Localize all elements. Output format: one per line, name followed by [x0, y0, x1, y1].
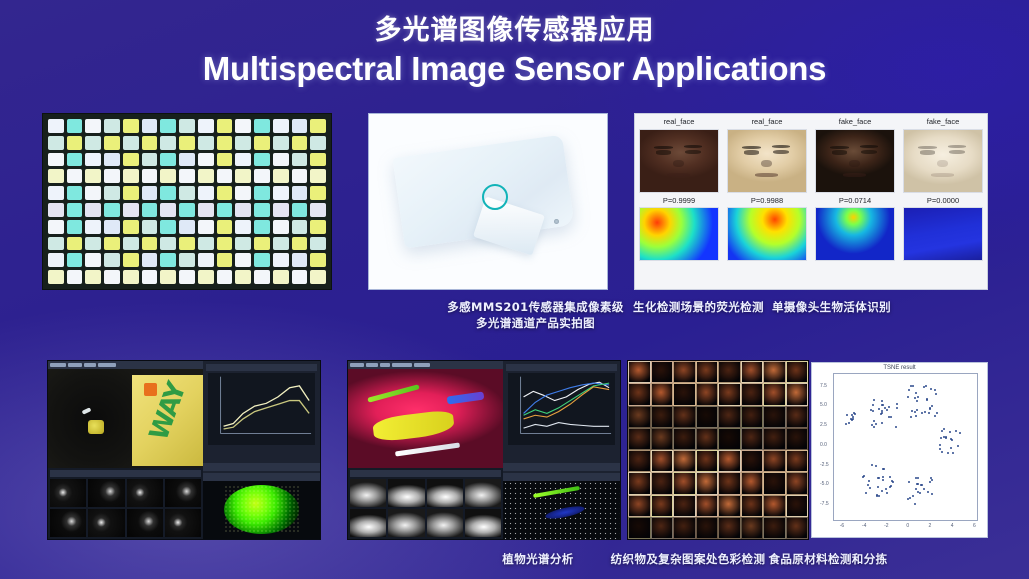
filter-cell: [160, 153, 176, 167]
filter-cell: [292, 136, 308, 150]
scatter-point: [875, 423, 877, 425]
food-sample-cell: [718, 450, 741, 472]
food-sample-cell: [651, 383, 674, 405]
filter-cell: [85, 136, 101, 150]
channel-thumbnail[interactable]: [88, 509, 124, 537]
filter-cell: [292, 186, 308, 200]
filter-cell: [310, 253, 326, 267]
panel-plant-spectral-analysis: WAY: [47, 360, 321, 540]
food-sample-cell: [786, 450, 809, 472]
food-sample-cell: [718, 428, 741, 450]
filter-cell: [198, 119, 214, 133]
filter-cell: [179, 186, 195, 200]
filter-cell: [179, 203, 195, 217]
panel-face-liveness: real_face P=0.9999 real_face P=0.9988: [634, 113, 988, 290]
food-sample-cell: [786, 428, 809, 450]
camera-view: WAY: [48, 369, 203, 468]
scatter-point: [930, 388, 932, 390]
food-sample-cell: [718, 406, 741, 428]
scatter-point: [877, 477, 879, 479]
scatter-point: [919, 492, 921, 494]
food-sample-cell: [673, 472, 696, 494]
face-thumbnail: [639, 129, 719, 193]
spectral-curves: [208, 373, 315, 445]
scatter-point: [931, 493, 933, 495]
food-sample-cell: [741, 428, 764, 450]
food-sample-cell: [696, 450, 719, 472]
fluorescence-marker-icon: [482, 184, 508, 210]
scatter-point: [852, 418, 854, 420]
channel-thumbnail[interactable]: [388, 509, 424, 537]
food-sample-cell: [786, 406, 809, 428]
food-sample-cell: [696, 428, 719, 450]
scatter-point: [910, 385, 912, 387]
filter-cell: [160, 220, 176, 234]
scatter-point: [941, 451, 943, 453]
filter-cell: [235, 253, 251, 267]
food-sample-cell: [673, 361, 696, 383]
food-sample-cell: [651, 428, 674, 450]
filter-cell: [104, 169, 120, 183]
scatter-point: [890, 416, 892, 418]
filter-cell: [273, 153, 289, 167]
food-sample-cell: [786, 383, 809, 405]
filter-cell: [67, 270, 83, 284]
filter-cell: [198, 253, 214, 267]
food-sample-cell: [786, 495, 809, 517]
scatter-point: [930, 477, 932, 479]
filter-cell: [179, 237, 195, 251]
scatter-point: [883, 468, 885, 470]
filter-cell: [235, 270, 251, 284]
filter-cell: [179, 270, 195, 284]
food-sample-cell: [718, 517, 741, 539]
filter-cell: [67, 136, 83, 150]
scatter-point: [949, 431, 951, 433]
scatter-point: [957, 445, 959, 447]
filter-cell: [85, 169, 101, 183]
food-sample-cell: [763, 450, 786, 472]
scatter-point: [917, 477, 919, 479]
scatter-y-tick: 2.5: [820, 422, 827, 428]
filter-cell: [254, 186, 270, 200]
scatter-point: [848, 422, 850, 424]
filter-cell: [160, 136, 176, 150]
filter-cell: [123, 237, 139, 251]
food-sample-cell: [696, 406, 719, 428]
filter-cell: [310, 186, 326, 200]
food-sample-cell: [741, 383, 764, 405]
food-sample-cell: [763, 472, 786, 494]
filter-cell: [254, 169, 270, 183]
classification-result-view: [203, 481, 320, 539]
scatter-point: [872, 410, 874, 412]
filter-cell: [160, 237, 176, 251]
food-sample-cell: [763, 383, 786, 405]
filter-cell: [160, 203, 176, 217]
food-sample-cell: [673, 406, 696, 428]
filter-cell: [310, 270, 326, 284]
scatter-point: [907, 396, 909, 398]
filter-cell: [273, 270, 289, 284]
scatter-x-tick: -6: [840, 523, 844, 529]
scatter-point: [916, 483, 918, 485]
filter-cell: [273, 220, 289, 234]
filter-cell: [48, 253, 64, 267]
channel-thumbnail-panel: [348, 468, 503, 539]
food-sample-cell: [696, 383, 719, 405]
filter-cell: [292, 220, 308, 234]
food-sample-cell: [628, 517, 651, 539]
food-sample-cell: [786, 472, 809, 494]
filter-cell: [310, 203, 326, 217]
channel-thumbnail[interactable]: [388, 479, 424, 507]
food-sample-cell: [763, 517, 786, 539]
scatter-point: [912, 495, 914, 497]
filter-cell: [85, 153, 101, 167]
filter-cell: [273, 186, 289, 200]
filter-cell: [104, 270, 120, 284]
food-sample-cell: [651, 450, 674, 472]
filter-cell: [217, 119, 233, 133]
channel-thumbnail[interactable]: [88, 479, 124, 507]
scatter-point: [871, 464, 873, 466]
scatter-y-tick: 5.0: [820, 402, 827, 408]
filter-cell: [235, 136, 251, 150]
filter-cell: [198, 136, 214, 150]
filter-cell: [235, 203, 251, 217]
filter-cell: [123, 270, 139, 284]
scatter-point: [869, 487, 871, 489]
scatter-point: [881, 400, 883, 402]
scatter-point: [881, 410, 883, 412]
filter-cell: [179, 253, 195, 267]
filter-cell: [104, 220, 120, 234]
scatter-x-tick: 2: [929, 523, 932, 529]
filter-cell: [273, 237, 289, 251]
scatter-point: [881, 422, 883, 424]
face-heatmap: [815, 207, 895, 261]
scatter-point: [889, 486, 891, 488]
food-sample-cell: [673, 517, 696, 539]
scatter-point: [908, 389, 910, 391]
scatter-point: [943, 428, 945, 430]
filter-cell: [310, 119, 326, 133]
food-sample-cell: [786, 361, 809, 383]
scatter-point: [876, 495, 878, 497]
scatter-point: [896, 407, 898, 409]
scatter-point: [914, 397, 916, 399]
scatter-y-tick: 7.5: [820, 383, 827, 389]
scatter-point: [935, 393, 937, 395]
software-menu-bar[interactable]: [48, 361, 203, 369]
filter-cell: [85, 237, 101, 251]
filter-cell: [160, 186, 176, 200]
face-thumbnail: [727, 129, 807, 193]
scatter-point: [921, 412, 923, 414]
scatter-point: [925, 385, 927, 387]
food-sample-cell: [628, 406, 651, 428]
channel-thumbnail[interactable]: [427, 509, 463, 537]
filter-cell: [254, 153, 270, 167]
food-sample-cell: [651, 361, 674, 383]
scatter-point: [875, 465, 877, 467]
caption-mosaic-filter-array-line2: 多光谱通道产品实拍图: [0, 316, 1029, 331]
food-sample-cell: [741, 495, 764, 517]
software-menu-bar[interactable]: [348, 361, 503, 369]
food-sample-cell: [628, 450, 651, 472]
spectrograph-chart: [203, 361, 320, 461]
scatter-point: [867, 484, 869, 486]
food-sample-cell: [696, 495, 719, 517]
scatter-point: [882, 404, 884, 406]
food-sample-cell: [651, 406, 674, 428]
scatter-point: [914, 503, 916, 505]
food-sample-cell: [718, 383, 741, 405]
food-sample-cell: [718, 495, 741, 517]
filter-cell: [179, 136, 195, 150]
channel-thumbnail[interactable]: [127, 509, 163, 537]
filter-cell: [123, 169, 139, 183]
filter-cell: [198, 270, 214, 284]
filter-cell: [85, 119, 101, 133]
scatter-point: [878, 495, 880, 497]
scatter-point: [928, 412, 930, 414]
food-sample-cell: [741, 517, 764, 539]
filter-cell: [292, 237, 308, 251]
face-heatmap: [903, 207, 983, 261]
scatter-point: [909, 497, 911, 499]
channel-thumbnail[interactable]: [165, 479, 201, 507]
food-sample-cell: [741, 406, 764, 428]
multispectral-filter-grid: [43, 114, 331, 289]
filter-cell: [198, 186, 214, 200]
channel-thumbnail[interactable]: [350, 509, 386, 537]
channel-thumbnail[interactable]: [165, 509, 201, 537]
filter-cell: [48, 119, 64, 133]
face-thumbnail: [815, 129, 895, 193]
scatter-x-tick: 4: [951, 523, 954, 529]
filter-cell: [123, 253, 139, 267]
filter-cell: [292, 253, 308, 267]
channel-thumbnail[interactable]: [427, 479, 463, 507]
scatter-point: [917, 483, 919, 485]
filter-cell: [292, 203, 308, 217]
filter-cell: [310, 169, 326, 183]
filter-cell: [104, 203, 120, 217]
filter-cell: [235, 237, 251, 251]
filter-cell: [123, 220, 139, 234]
channel-thumbnail-panel: [48, 468, 203, 539]
filter-cell: [85, 270, 101, 284]
face-result-grid: real_face P=0.9999 real_face P=0.9988: [635, 114, 987, 289]
food-sample-cell: [673, 383, 696, 405]
scatter-point: [877, 486, 879, 488]
filter-cell: [123, 186, 139, 200]
channel-thumbnail[interactable]: [350, 479, 386, 507]
scatter-point: [873, 399, 875, 401]
face-probability: P=0.0714: [813, 194, 897, 207]
filter-cell: [198, 220, 214, 234]
scatter-point: [886, 409, 888, 411]
filter-cell: [142, 119, 158, 133]
food-sample-cell: [673, 450, 696, 472]
scatter-point: [896, 403, 898, 405]
scatter-y-tick: -2.5: [820, 462, 829, 468]
filter-cell: [67, 119, 83, 133]
filter-cell: [123, 153, 139, 167]
scatter-point: [915, 488, 917, 490]
food-sample-cell: [718, 472, 741, 494]
food-sample-cell: [763, 361, 786, 383]
scatter-point: [941, 430, 943, 432]
scatter-y-tick: -7.5: [820, 501, 829, 507]
scatter-plot-area: -6-4-202467.55.02.50.0-2.5-5.0-7.5: [833, 373, 978, 521]
filter-cell: [104, 237, 120, 251]
filter-cell: [104, 186, 120, 200]
page-title-en: Multispectral Image Sensor Applications: [0, 50, 1029, 88]
filter-cell: [142, 153, 158, 167]
scatter-point: [950, 447, 952, 449]
face-heatmap: [727, 207, 807, 261]
spectrograph-chart: [503, 361, 620, 461]
filter-cell: [123, 119, 139, 133]
food-sample-cell: [763, 495, 786, 517]
scatter-point: [881, 490, 883, 492]
scatter-point: [939, 448, 941, 450]
filter-cell: [273, 203, 289, 217]
scatter-point: [915, 415, 917, 417]
scatter-point: [934, 415, 936, 417]
scatter-point: [888, 416, 890, 418]
filter-cell: [48, 186, 64, 200]
food-sample-grid: [628, 361, 808, 539]
scatter-point: [873, 426, 875, 428]
filter-cell: [254, 237, 270, 251]
false-color-textile-view: [348, 369, 503, 468]
panel-mosaic-filter-array: [42, 113, 332, 290]
classification-result-view: [503, 481, 620, 539]
caption-food-material-sorting: 食品原材料检测和分拣: [0, 552, 1029, 567]
scatter-point: [921, 484, 923, 486]
filter-cell: [292, 153, 308, 167]
filter-cell: [254, 270, 270, 284]
filter-cell: [85, 203, 101, 217]
filter-cell: [179, 169, 195, 183]
food-sample-cell: [628, 472, 651, 494]
scatter-point: [908, 481, 910, 483]
scatter-x-tick: 0: [906, 523, 909, 529]
filter-cell: [273, 169, 289, 183]
filter-cell: [310, 153, 326, 167]
filter-cell: [198, 203, 214, 217]
face-label: real_face: [725, 116, 809, 128]
filter-cell: [123, 203, 139, 217]
filter-cell: [160, 169, 176, 183]
filter-cell: [48, 136, 64, 150]
filter-cell: [142, 203, 158, 217]
filter-cell: [217, 186, 233, 200]
scatter-point: [926, 399, 928, 401]
panel-textile-color-detection: [347, 360, 621, 540]
scatter-point: [931, 405, 933, 407]
food-sample-cell: [651, 472, 674, 494]
channel-thumbnail[interactable]: [465, 479, 501, 507]
filter-cell: [104, 153, 120, 167]
food-sample-cell: [696, 472, 719, 494]
filter-cell: [292, 270, 308, 284]
scatter-point: [950, 438, 952, 440]
filter-cell: [217, 237, 233, 251]
scatter-point: [885, 488, 887, 490]
scatter-point: [881, 412, 883, 414]
filter-cell: [48, 153, 64, 167]
scatter-point: [939, 444, 941, 446]
filter-cell: [217, 169, 233, 183]
filter-cell: [235, 169, 251, 183]
filter-cell: [273, 119, 289, 133]
filter-cell: [235, 186, 251, 200]
food-sample-cell: [763, 406, 786, 428]
food-sample-cell: [628, 428, 651, 450]
face-probability: P=0.9999: [637, 194, 721, 207]
food-sample-cell: [741, 450, 764, 472]
filter-cell: [254, 203, 270, 217]
face-heatmap: [639, 207, 719, 261]
filter-cell: [104, 119, 120, 133]
filter-cell: [67, 186, 83, 200]
filter-cell: [85, 220, 101, 234]
face-thumbnail: [903, 129, 983, 193]
channel-thumbnail[interactable]: [50, 479, 86, 507]
channel-thumbnail[interactable]: [127, 479, 163, 507]
scatter-point: [872, 404, 874, 406]
face-label: fake_face: [813, 116, 897, 128]
panel-food-sample-grid: [627, 360, 809, 540]
filter-cell: [67, 153, 83, 167]
caption-face-liveness: 单摄像头生物活体识别: [0, 300, 1029, 315]
filter-cell: [217, 203, 233, 217]
food-sample-cell: [673, 495, 696, 517]
scatter-point: [929, 407, 931, 409]
scatter-x-tick: -2: [884, 523, 888, 529]
channel-thumbnail[interactable]: [465, 509, 501, 537]
filter-cell: [217, 153, 233, 167]
scatter-point: [910, 416, 912, 418]
scatter-point: [882, 476, 884, 478]
filter-cell: [198, 237, 214, 251]
filter-cell: [142, 186, 158, 200]
filter-cell: [48, 169, 64, 183]
scatter-point: [914, 411, 916, 413]
filter-cell: [67, 169, 83, 183]
face-result-item: fake_face P=0.0714: [811, 114, 899, 289]
scatter-title: TSNE result: [812, 363, 987, 373]
filter-cell: [310, 220, 326, 234]
filter-cell: [48, 220, 64, 234]
scatter-point: [915, 392, 917, 394]
scatter-point: [934, 389, 936, 391]
scatter-point: [917, 396, 919, 398]
filter-cell: [104, 253, 120, 267]
scatter-point: [868, 480, 870, 482]
filter-cell: [198, 153, 214, 167]
food-sample-cell: [696, 361, 719, 383]
filter-cell: [217, 136, 233, 150]
channel-thumbnail[interactable]: [50, 509, 86, 537]
filter-cell: [67, 253, 83, 267]
filter-cell: [179, 220, 195, 234]
